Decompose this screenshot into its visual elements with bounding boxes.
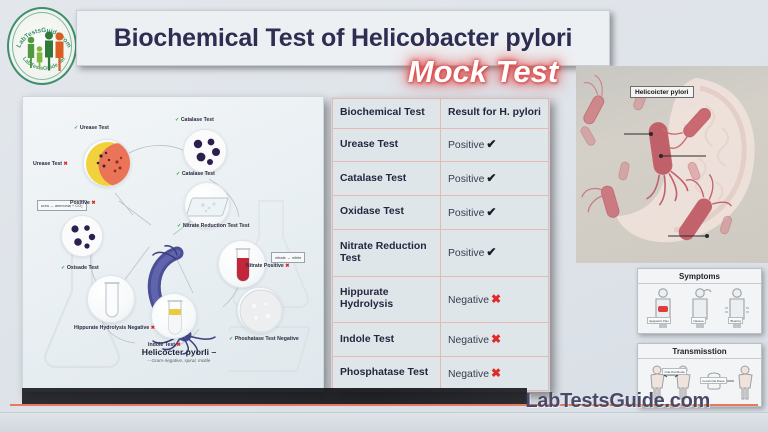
- table-row: Catalase TestPositive✔: [333, 162, 549, 196]
- catalase-far-bubble: [183, 129, 227, 173]
- table-row: Nitrate Reduction TestPositive✔: [333, 229, 549, 276]
- mock-test-badge: Mock Test: [383, 54, 583, 90]
- check-icon: ✓: [229, 336, 233, 342]
- phosphatase-bubble: [237, 287, 283, 333]
- svg-text:LabTestsGuide.com: LabTestsGuide.com: [15, 27, 72, 49]
- cell-test-name: Catalase Test: [333, 162, 441, 196]
- cross-icon: ✖: [151, 325, 155, 331]
- colony-plate-icon: [184, 130, 227, 173]
- symptoms-title: Symptoms: [638, 269, 761, 284]
- slide-canvas: LabTestsGuide.com LabTestsGuide.net Bioc…: [0, 0, 768, 432]
- bacteria-name-label: Helicoicter pylori: [630, 86, 694, 98]
- test-tube-clear-icon: [88, 276, 135, 323]
- table-row: Urease TestPositive✔: [333, 128, 549, 162]
- check-icon: ✔: [486, 205, 496, 219]
- phosphatase-label: ✓ Phoshatase Test Negative: [229, 336, 299, 343]
- cross-icon: ✖: [63, 161, 67, 167]
- logo-artwork: LabTestsGuide.com LabTestsGuide.net: [9, 9, 77, 85]
- result-text: Negative: [448, 369, 489, 380]
- col-result: Result for H. pylori: [441, 99, 549, 129]
- positive-left-label: Positive ✖: [70, 200, 96, 207]
- cross-icon: ✖: [491, 292, 501, 306]
- check-icon: ✓: [176, 171, 180, 177]
- check-icon: ✓: [61, 265, 65, 271]
- table-row: Hippurate HydrolysisNegative✖: [333, 276, 549, 323]
- table-row: Phosphatase TestNegative✖: [333, 357, 549, 391]
- check-icon: ✔: [486, 137, 496, 151]
- cell-test-name: Oxidase Test: [333, 196, 441, 230]
- result-text: Positive: [448, 208, 484, 219]
- cell-result: Negative✖: [441, 357, 549, 391]
- labtestsguide-logo: LabTestsGuide.com LabTestsGuide.net: [7, 7, 77, 85]
- organism-subtitle: – Gram-negative, spiral, motile: [109, 358, 249, 363]
- footer-shadow-band: [22, 388, 527, 404]
- nitrate-positive-label: Nitrate Positive ✖: [246, 263, 290, 270]
- col-biochemical-test: Biochemical Test: [333, 99, 441, 129]
- symptom-caption-1: Epigastric Pain: [647, 317, 671, 324]
- transmission-caption-1: Oral-Oral Route: [662, 368, 687, 375]
- cell-result: Positive✔: [441, 162, 549, 196]
- result-text: Negative: [448, 295, 489, 306]
- cell-test-name: Hippurate Hydrolysis: [333, 276, 441, 323]
- oxidase-bubble: [87, 275, 135, 323]
- symptom-caption-3: Bloating: [728, 317, 743, 324]
- urease-test-bubble: [83, 139, 131, 187]
- page-title: Biochemical Test of Helicobacter pylori: [114, 24, 573, 53]
- hippurate-label: Hippurate Hydrolysis Negative ✖: [74, 325, 155, 332]
- check-icon: ✓: [175, 117, 179, 123]
- cell-test-name: Phosphatase Test: [333, 357, 441, 391]
- glass-slide-icon: [185, 183, 230, 228]
- results-table: Biochemical Test Result for H. pylori Ur…: [332, 98, 549, 391]
- cell-result: Negative✖: [441, 276, 549, 323]
- cross-icon: ✖: [491, 332, 501, 346]
- agar-plate-icon: [238, 288, 283, 333]
- table-header-row: Biochemical Test Result for H. pylori: [333, 99, 549, 129]
- colony-plate-icon: [62, 216, 103, 257]
- urease-plate-icon: [84, 140, 131, 187]
- site-watermark: LabTestsGuide.com: [525, 390, 710, 413]
- result-text: Positive: [448, 248, 484, 259]
- organism-name: Helicocter pyorli –: [119, 347, 239, 357]
- indole-bubble: [151, 293, 197, 339]
- catalase-far-label: ✓ Catalase Test: [175, 117, 214, 124]
- transmission-caption-2: Fecal-Oral Route: [700, 377, 727, 384]
- nitrate-circle-label: ✓ Nitrate Reduction Test Test: [177, 223, 250, 230]
- catalase-mid-bubble: [184, 182, 230, 228]
- symptom-caption-2: Nausea: [691, 317, 706, 324]
- cross-icon: ✖: [285, 263, 289, 269]
- cross-icon: ✖: [491, 366, 501, 380]
- cell-test-name: Nitrate Reduction Test: [333, 229, 441, 276]
- result-text: Positive: [448, 140, 484, 151]
- bacteria-illustration-panel: Helicoicter pylori: [576, 66, 768, 263]
- result-text: Positive: [448, 174, 484, 185]
- check-icon: ✓: [74, 125, 78, 131]
- urease-colonies-bubble: [61, 215, 103, 257]
- cell-result: Positive✔: [441, 229, 549, 276]
- check-icon: ✔: [486, 245, 496, 259]
- cell-result: Positive✔: [441, 196, 549, 230]
- cell-test-name: Urease Test: [333, 128, 441, 162]
- transmission-title: Transmisstion: [638, 344, 761, 359]
- cell-result: Positive✔: [441, 128, 549, 162]
- check-icon: ✔: [486, 171, 496, 185]
- nitrate-reaction-note: nitrate → nitrite: [271, 252, 305, 263]
- test-tube-yellow-icon: [152, 294, 197, 339]
- urease-top-label: ✓ Urease Test: [74, 125, 109, 132]
- table-row: Oxidase TestPositive✔: [333, 196, 549, 230]
- cell-test-name: Indole Test: [333, 323, 441, 357]
- catalase-mid-label: ✓ Catalase Test: [176, 171, 215, 178]
- table-row: Indole TestNegative✖: [333, 323, 549, 357]
- urease-left-label: Urease Test ✖: [33, 161, 68, 168]
- cell-result: Negative✖: [441, 323, 549, 357]
- symptoms-panel: Symptoms: [637, 268, 762, 334]
- cross-icon: ✖: [91, 200, 95, 206]
- bottom-strip: [0, 412, 768, 432]
- check-icon: ✓: [177, 223, 181, 229]
- result-text: Negative: [448, 335, 489, 346]
- symptoms-body: Epigastric Pain Nausea Bloating: [638, 284, 761, 328]
- oxidase-label: ✓ Oxisade Test: [61, 265, 99, 272]
- infographic-panel: ✓ Urease Test Urease Test ✖ urea → ammon…: [22, 96, 324, 392]
- results-table-panel: Biochemical Test Result for H. pylori Ur…: [331, 97, 550, 392]
